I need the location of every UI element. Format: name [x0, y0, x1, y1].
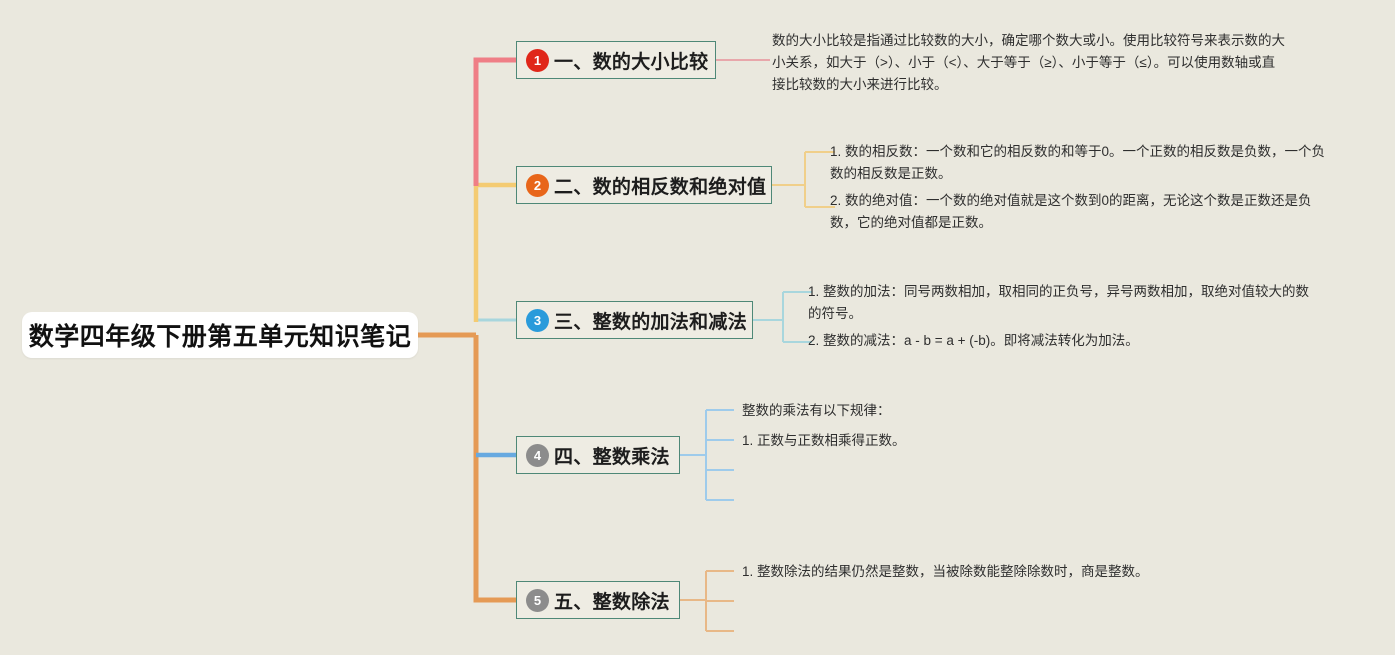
- topic-node-4[interactable]: 4 四、整数乘法: [516, 436, 680, 474]
- detail-4-1: 整数的乘法有以下规律：: [742, 400, 1182, 422]
- spine-wire-yellow: [476, 185, 516, 322]
- topic-node-2[interactable]: 2 二、数的相反数和绝对值: [516, 166, 772, 204]
- topic-label-4: 四、整数乘法: [554, 442, 670, 469]
- root-node[interactable]: 数学四年级下册第五单元知识笔记: [22, 312, 418, 358]
- topic-label-1: 一、数的大小比较: [554, 47, 708, 74]
- topic-label-2: 二、数的相反数和绝对值: [554, 172, 766, 199]
- detail-2-1: 1. 数的相反数：一个数和它的相反数的和等于0。一个正数的相反数是负数，一个负数…: [830, 141, 1336, 185]
- detail-5-1: 1. 整数除法的结果仍然是整数，当被除数能整除除数时，商是整数。: [742, 561, 1262, 583]
- topic-badge-1: 1: [526, 49, 549, 72]
- spine-wire-orange: [476, 335, 516, 600]
- detail-2-2: 2. 数的绝对值：一个数的绝对值就是这个数到0的距离，无论这个数是正数还是负数，…: [830, 190, 1336, 234]
- detail-1-1: 数的大小比较是指通过比较数的大小，确定哪个数大或小。使用比较符号来表示数的大小关…: [772, 30, 1287, 96]
- detail-3-1: 1. 整数的加法：同号两数相加，取相同的正负号，异号两数相加，取绝对值较大的数的…: [808, 281, 1316, 325]
- topic-badge-2: 2: [526, 174, 549, 197]
- topic-label-3: 三、整数的加法和减法: [554, 307, 747, 334]
- detail-3-2: 2. 整数的减法：a - b = a + (-b)。即将减法转化为加法。: [808, 330, 1316, 352]
- spine-wire-pink: [476, 60, 516, 186]
- topic-node-3[interactable]: 3 三、整数的加法和减法: [516, 301, 753, 339]
- topic-badge-5: 5: [526, 589, 549, 612]
- topic-node-1[interactable]: 1 一、数的大小比较: [516, 41, 716, 79]
- topic-label-5: 五、整数除法: [554, 587, 670, 614]
- root-node-label: 数学四年级下册第五单元知识笔记: [29, 317, 412, 353]
- detail-4-2: 1. 正数与正数相乘得正数。: [742, 430, 1182, 452]
- topic-node-5[interactable]: 5 五、整数除法: [516, 581, 680, 619]
- mindmap-canvas: 数学四年级下册第五单元知识笔记 1 一、数的大小比较 数的大小比较是指通过比较数…: [0, 0, 1395, 655]
- topic-badge-4: 4: [526, 444, 549, 467]
- topic-badge-3: 3: [526, 309, 549, 332]
